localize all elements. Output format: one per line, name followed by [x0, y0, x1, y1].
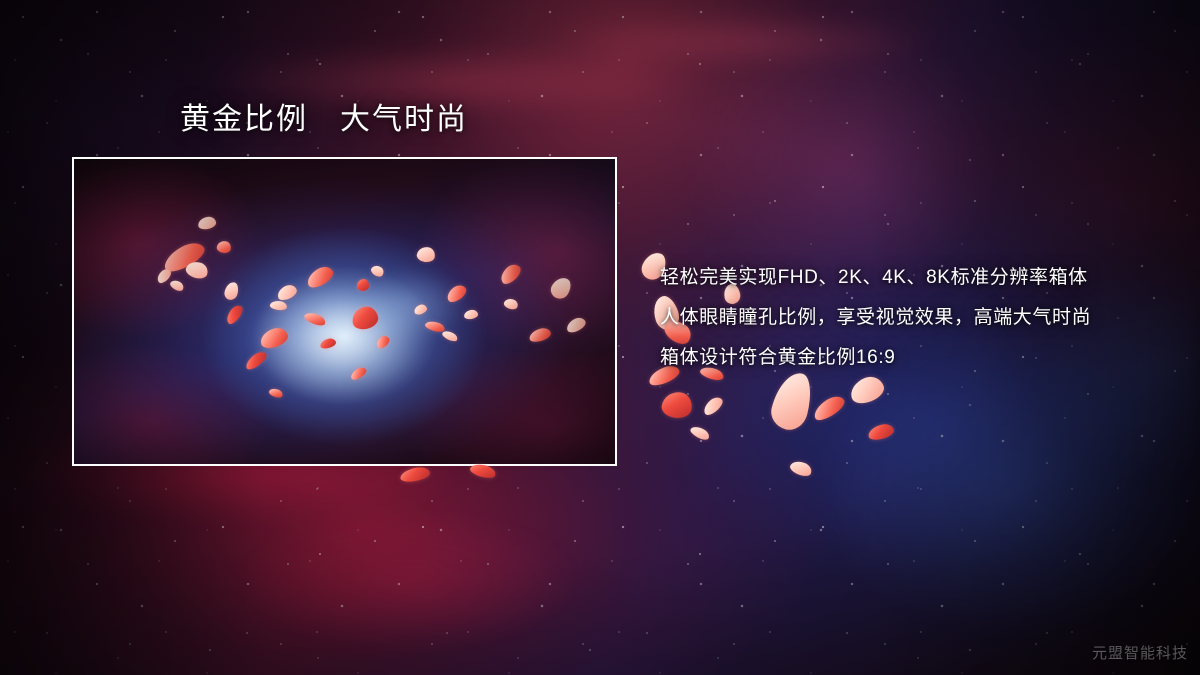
body-copy: 轻松完美实现FHD、2K、4K、8K标准分辨率箱体 人体眼睛瞳孔比例，享受视觉效…	[660, 258, 1180, 378]
photo-vignette	[74, 159, 615, 464]
body-line: 轻松完美实现FHD、2K、4K、8K标准分辨率箱体	[660, 258, 1180, 298]
watermark: 元盟智能科技	[1092, 642, 1188, 663]
body-line: 箱体设计符合黄金比例16:9	[660, 338, 1180, 378]
framed-photo	[72, 157, 617, 466]
slide-canvas: 黄金比例 大气时尚	[0, 0, 1200, 675]
page-title: 黄金比例 大气时尚	[180, 101, 468, 139]
body-line: 人体眼睛瞳孔比例，享受视觉效果，高端大气时尚	[660, 298, 1180, 338]
